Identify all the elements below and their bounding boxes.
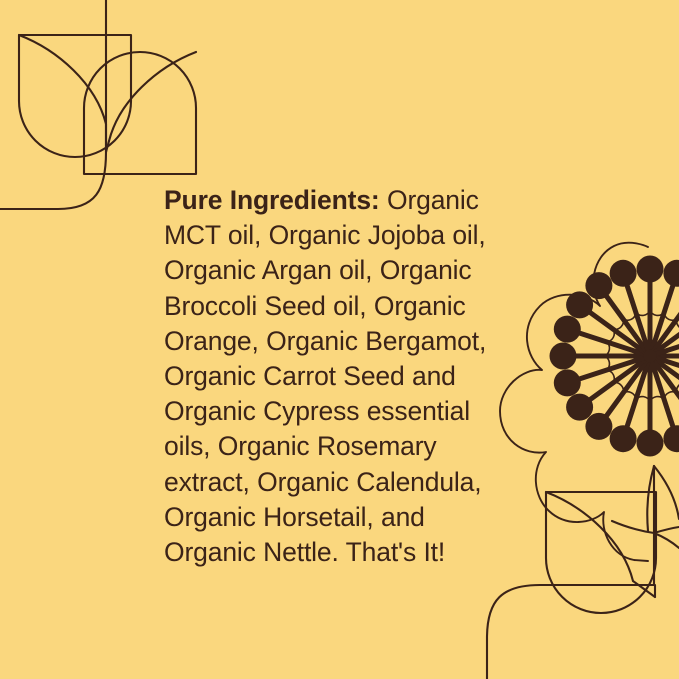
bottom-stem	[487, 585, 655, 679]
bottom-leaf-large-tip	[633, 581, 655, 597]
bottom-leaf-large-midrib	[546, 492, 633, 581]
sprig-leaf-right-outline	[84, 52, 196, 174]
sprig-leaf-left-midrib	[19, 35, 106, 124]
seed-head-spokes	[572, 278, 679, 434]
ingredients-label-panel: Pure Ingredients: Organic MCT oil, Organ…	[0, 0, 679, 679]
ingredients-heading: Pure Ingredients:	[164, 185, 380, 215]
right-flower-group	[500, 243, 679, 561]
sprig-leaf-right-midrib	[109, 52, 196, 141]
flower-seed-head	[550, 256, 679, 457]
seed-head-dots	[550, 256, 679, 457]
bottom-leaf-small-outline	[654, 466, 679, 519]
flower-petal-outline	[500, 243, 648, 561]
sprig-leaf-right-stalk	[106, 141, 109, 152]
sprig-leaf-left-outline	[19, 35, 131, 157]
bottom-leaf-small-outline-2	[647, 466, 654, 531]
seed-head-scallops	[604, 310, 679, 402]
bottom-leaf-large-outline	[546, 492, 656, 613]
ingredients-full-text: Pure Ingredients: Organic MCT oil, Organ…	[0, 0, 1, 1]
top-left-sprig-group	[0, 0, 196, 209]
sprig-stem	[0, 0, 106, 209]
bottom-leaf-small-vein-a	[654, 527, 679, 533]
bottom-leaf-small-vein-c	[612, 521, 654, 533]
ingredients-text-block: Pure Ingredients: Organic MCT oil, Organ…	[164, 183, 516, 570]
bottom-leaf-small-vein-b	[654, 533, 679, 548]
ingredients-body: Organic MCT oil, Organic Jojoba oil, Org…	[164, 185, 486, 567]
seed-head-center	[644, 350, 657, 363]
